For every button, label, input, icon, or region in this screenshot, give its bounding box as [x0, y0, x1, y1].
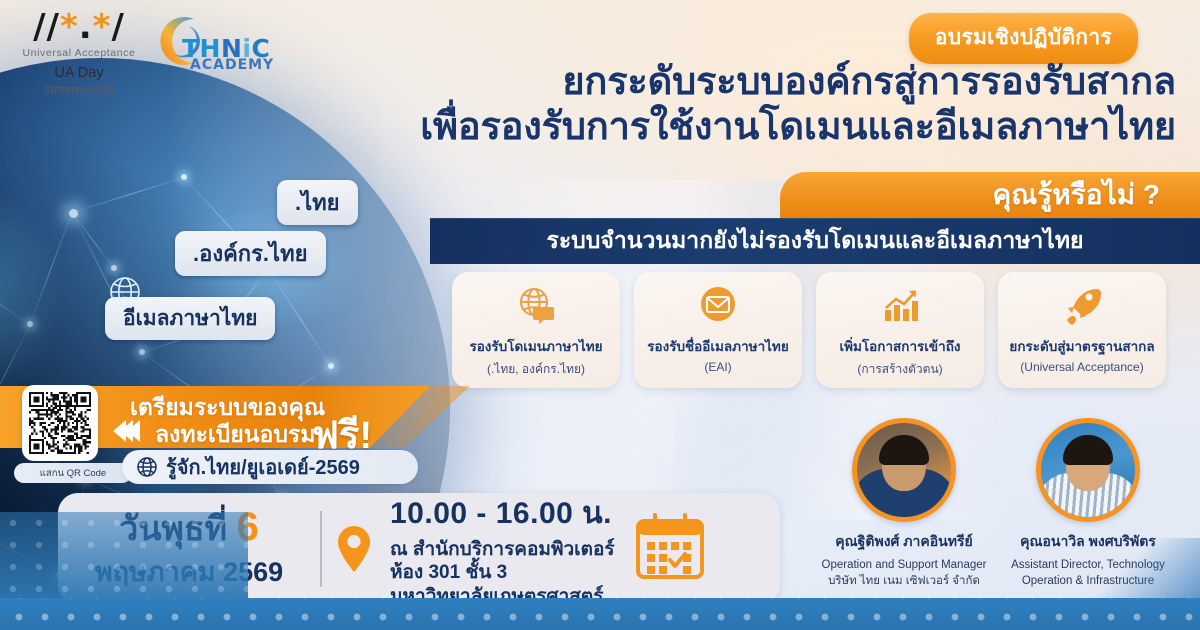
- registration-url-pill[interactable]: รู้จัก.ไทย/ยูเอเดย์-2569: [122, 450, 418, 484]
- ua-day-label: UA Day: [18, 65, 140, 81]
- registration-url[interactable]: รู้จัก.ไทย/ยูเอเดย์-2569: [166, 451, 360, 483]
- globe-tag-org-thai: .องค์กร.ไทย: [175, 231, 326, 276]
- speaker-role-line-1: Operation and Support Manager: [820, 558, 988, 574]
- event-time-venue: 10.00 - 16.00 น. ณ สำนักบริการคอมพิวเตอร…: [386, 490, 615, 609]
- ua-logo: //*.*/ Universal Acceptance UA Day #Inte…: [18, 10, 140, 97]
- feature-cards: รองรับโดเมนภาษาไทย (.ไทย, องค์กร.ไทย) รอ…: [452, 272, 1166, 388]
- avatar-hair: [1063, 435, 1113, 465]
- speaker-card: คุณฐิติพงศ์ ภาคอินทรีย์ Operation and Su…: [820, 418, 988, 589]
- feature-card-title: ยกระดับสู่มาตรฐานสากล: [1009, 335, 1154, 357]
- headline-line-1: ยกระดับระบบองค์กรสู่การรองรับสากล: [562, 61, 1176, 103]
- ua-mark-star-2: *: [93, 7, 112, 47]
- bottom-right-wedge: [1080, 538, 1200, 598]
- bar-chart-growth-icon: [878, 283, 922, 327]
- qr-code-image[interactable]: [29, 392, 91, 454]
- rocket-icon: [1060, 283, 1104, 327]
- avatar-hair: [879, 435, 929, 465]
- headline-line-2: เพื่อรองรับการใช้งานโดเมนและอีเมลภาษาไทย: [246, 105, 1176, 150]
- avatar: [1036, 418, 1140, 522]
- venue-line-1: ณ สำนักบริการคอมพิวเตอร์: [390, 538, 615, 562]
- event-poster: .ไทย .องค์กร.ไทย อีเมลภาษาไทย //*.*/ Uni…: [0, 0, 1200, 630]
- did-you-know-bar: ระบบจำนวนมากยังไม่รองรับโดเมนและอีเมลภาษ…: [430, 218, 1200, 264]
- envelope-icon: [696, 283, 740, 327]
- feature-card-global-standard: ยกระดับสู่มาตรฐานสากล (Universal Accepta…: [998, 272, 1166, 388]
- globe-icon: [136, 456, 158, 478]
- globe-tag-thai-tld: .ไทย: [277, 180, 358, 225]
- bottom-left-dot-panel: [0, 512, 248, 598]
- globe-tag-label: อีเมลภาษาไทย: [123, 307, 257, 330]
- feature-card-title: รองรับโดเมนภาษาไทย: [469, 335, 602, 357]
- bottom-dot-band: [0, 598, 1200, 630]
- feature-card-subtitle: (.ไทย, องค์กร.ไทย): [487, 360, 585, 379]
- did-you-know-label: คุณรู้หรือไม่ ?: [993, 173, 1160, 217]
- globe-chat-icon: [514, 283, 558, 327]
- venue-line-2: ห้อง 301 ชั้น 3: [390, 561, 615, 585]
- feature-card-subtitle: (การสร้างตัวตน): [857, 360, 942, 379]
- ua-mark-star-1: *: [60, 7, 79, 47]
- did-you-know-message: ระบบจำนวนมากยังไม่รองรับโดเมนและอีเมลภาษ…: [546, 223, 1083, 259]
- globe-tag-label: .องค์กร.ไทย: [193, 241, 308, 266]
- qr-code-card[interactable]: [22, 385, 98, 461]
- feature-card-thai-email: รองรับชื่ออีเมลภาษาไทย (EAI): [634, 272, 802, 388]
- speaker-role: Operation and Support Manager บริษัท ไทย…: [820, 558, 988, 589]
- feature-card-reach: เพิ่มโอกาสการเข้าถึง (การสร้างตัวตน): [816, 272, 984, 388]
- ua-logo-mark: //*.*/: [18, 10, 140, 44]
- ua-hashtag: #Internet4All: [18, 83, 140, 97]
- did-you-know-pill: คุณรู้หรือไม่ ?: [780, 172, 1200, 218]
- ua-mark-dot: .: [79, 7, 93, 47]
- globe-tag-label: .ไทย: [295, 190, 340, 215]
- feature-card-thai-domain: รองรับโดเมนภาษาไทย (.ไทย, องค์กร.ไทย): [452, 272, 620, 388]
- speaker-name: คุณฐิติพงศ์ ภาคอินทรีย์: [820, 531, 988, 553]
- globe-outline-icon: [108, 275, 142, 314]
- feature-card-title: รองรับชื่ออีเมลภาษาไทย: [647, 335, 789, 357]
- ua-mark-slash: /: [111, 7, 124, 47]
- feature-card-subtitle: (Universal Acceptance): [1020, 360, 1143, 374]
- event-time: 10.00 - 16.00 น.: [390, 490, 615, 537]
- feature-card-subtitle: (EAI): [704, 360, 731, 374]
- ua-mark-slashes: //: [33, 7, 60, 47]
- ua-logo-subtitle: Universal Acceptance: [18, 47, 140, 59]
- speaker-role-line-2: บริษัท ไทย เนม เซิฟเวอร์ จำกัด: [820, 574, 988, 590]
- feature-card-title: เพิ่มโอกาสการเข้าถึง: [840, 335, 961, 357]
- avatar: [852, 418, 956, 522]
- chevron-left-icon: [113, 420, 134, 442]
- page-title: ยกระดับระบบองค์กรสู่การรองรับสากล เพื่อร…: [246, 60, 1176, 150]
- calendar-icon: [633, 511, 707, 588]
- location-pin-icon: [322, 524, 386, 574]
- register-line-2: ลงทะเบียนอบรม: [155, 417, 315, 453]
- workshop-badge: อบรมเชิงปฏิบัติการ: [909, 13, 1138, 64]
- qr-code-caption: แสกน QR Code: [14, 463, 132, 483]
